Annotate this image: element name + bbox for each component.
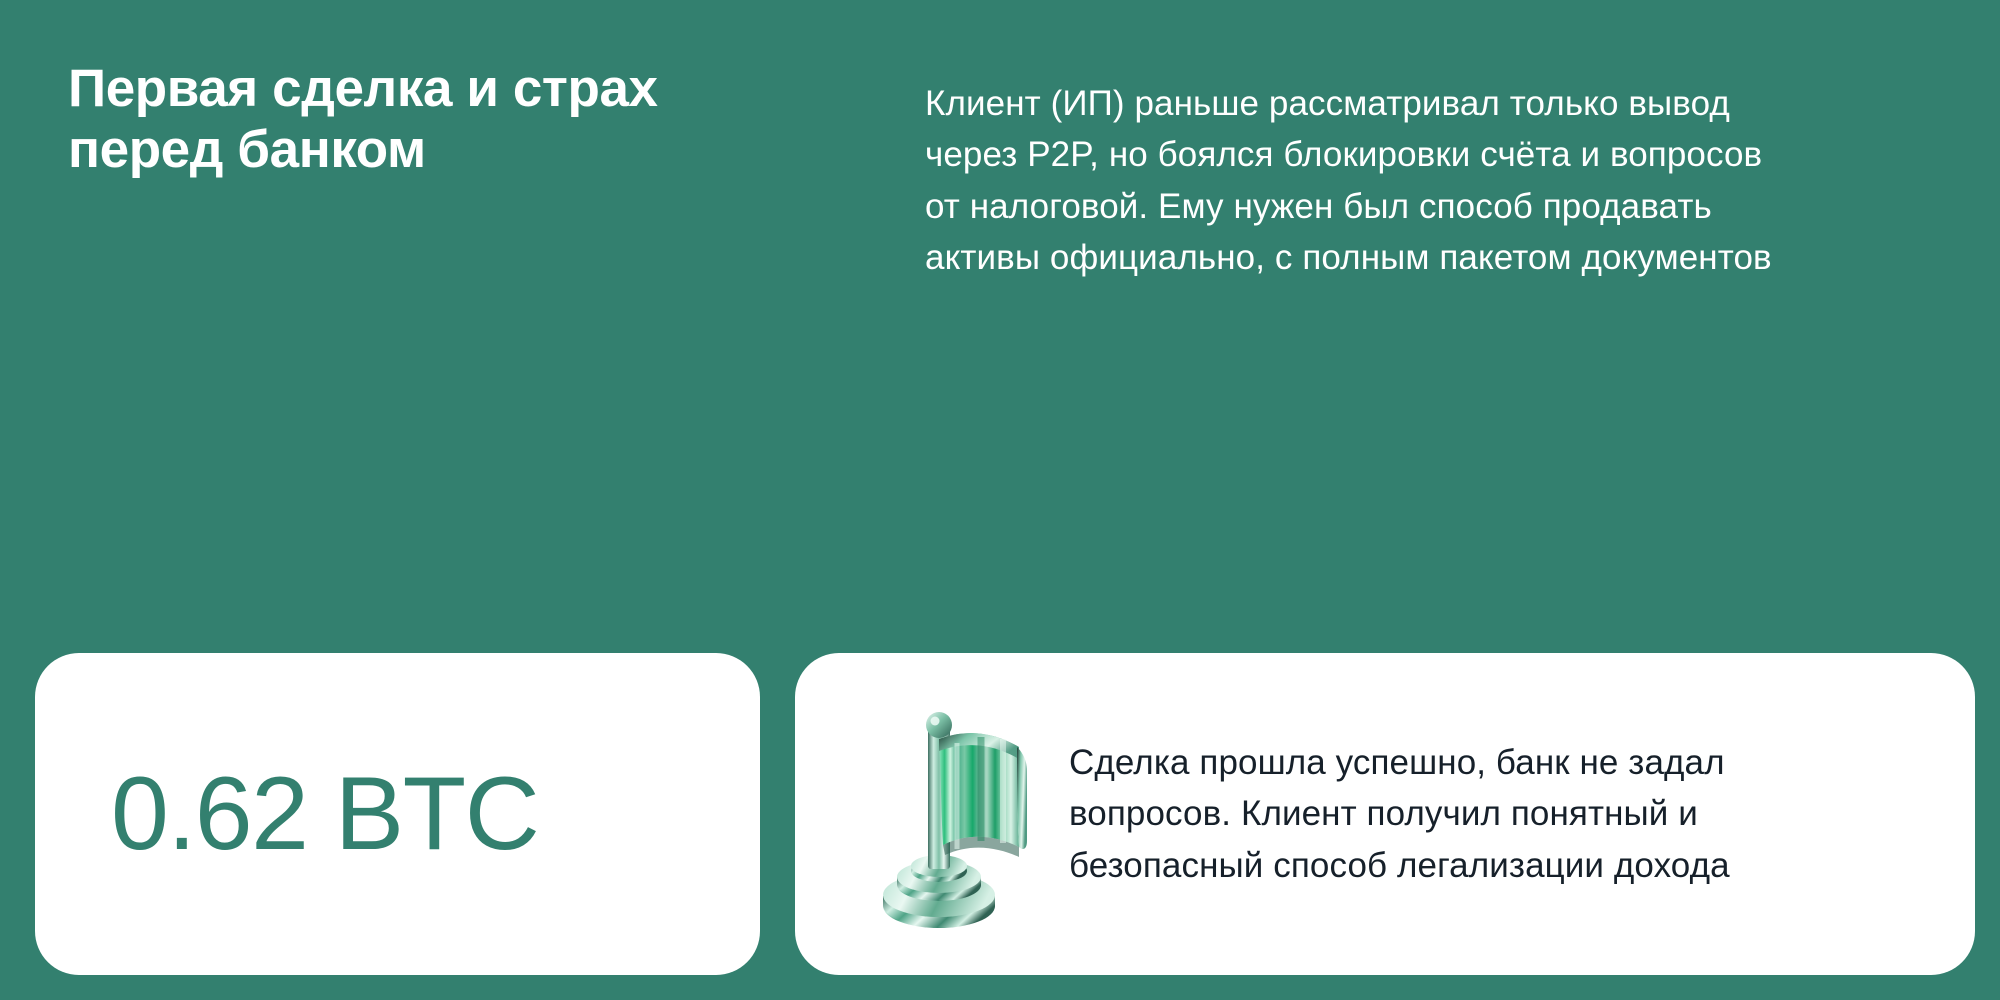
page-title-line-1: Первая сделка и страх: [68, 58, 688, 119]
intro-line-1: Клиент (ИП) раньше рассматривал только в…: [925, 78, 1945, 129]
result-paragraph: Сделка прошла успешно, банк не задалвопр…: [1047, 737, 1730, 891]
intro-line-4: активы официально, с полным пакетом доку…: [925, 232, 1945, 283]
case-slide: Первая сделка и страхперед банком Клиент…: [0, 0, 2000, 1000]
metric-value: 0.62 BTC: [35, 762, 538, 866]
flag-icon: [831, 691, 1047, 937]
metric-card: 0.62 BTC: [35, 653, 760, 975]
result-line-2: вопросов. Клиент получил понятный и: [1069, 788, 1730, 839]
cards-row: 0.62 BTC: [0, 653, 2000, 1000]
intro-paragraph: Клиент (ИП) раньше рассматривал только в…: [925, 78, 1945, 284]
page-title-line-2: перед банком: [68, 119, 688, 180]
result-line-3: безопасный способ легализации дохода: [1069, 840, 1730, 891]
result-line-1: Сделка прошла успешно, банк не задал: [1069, 737, 1730, 788]
page-title: Первая сделка и страхперед банком: [68, 58, 688, 181]
result-card: Сделка прошла успешно, банк не задалвопр…: [795, 653, 1975, 975]
slide-header: Первая сделка и страхперед банком Клиент…: [0, 0, 2000, 330]
intro-line-3: от налоговой. Ему нужен был способ прода…: [925, 181, 1945, 232]
intro-line-2: через P2P, но боялся блокировки счёта и …: [925, 129, 1945, 180]
